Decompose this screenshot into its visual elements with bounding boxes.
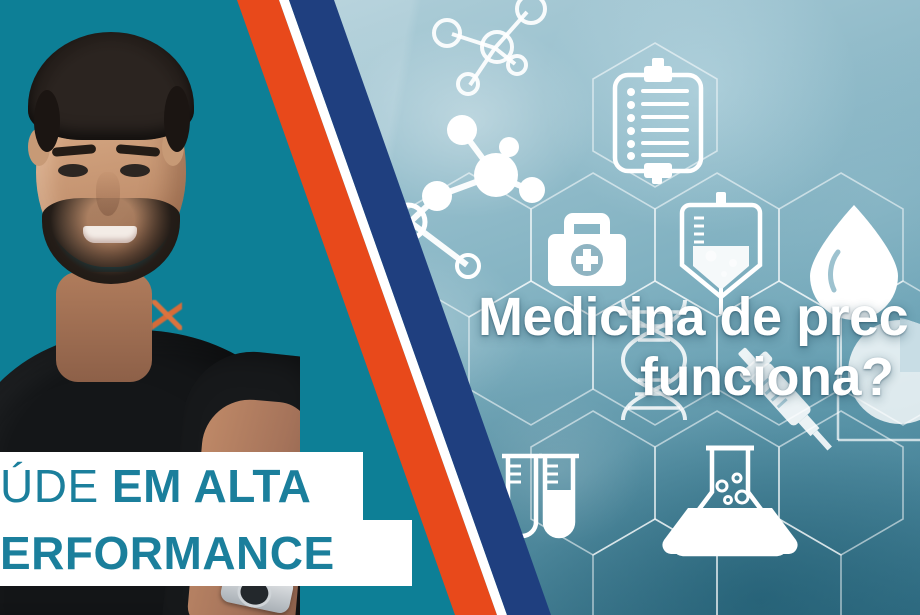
- title-banner-line-1: ÚDE EM ALTA: [0, 452, 363, 520]
- title-banner-line-2: ERFORMANCE: [0, 520, 412, 586]
- presenter-hair: [28, 32, 194, 140]
- headline-line-2: funciona?: [640, 350, 920, 406]
- presenter-eye-right: [120, 164, 150, 177]
- title-thin-text: ÚDE: [0, 460, 99, 512]
- title-bold-text-2: ERFORMANCE: [0, 530, 335, 576]
- presenter-smile: [83, 226, 137, 243]
- thumbnail-canvas: Medicina de prec funciona? ÚDE EM ALTA E…: [0, 0, 920, 615]
- presenter-eye-left: [58, 164, 88, 177]
- presenter-neck: [56, 272, 152, 382]
- shirt-emblem-icon: [152, 300, 182, 330]
- headline: Medicina de prec funciona?: [478, 290, 920, 405]
- headline-line-1: Medicina de prec: [478, 287, 908, 347]
- title-bold-text: EM ALTA: [112, 460, 311, 512]
